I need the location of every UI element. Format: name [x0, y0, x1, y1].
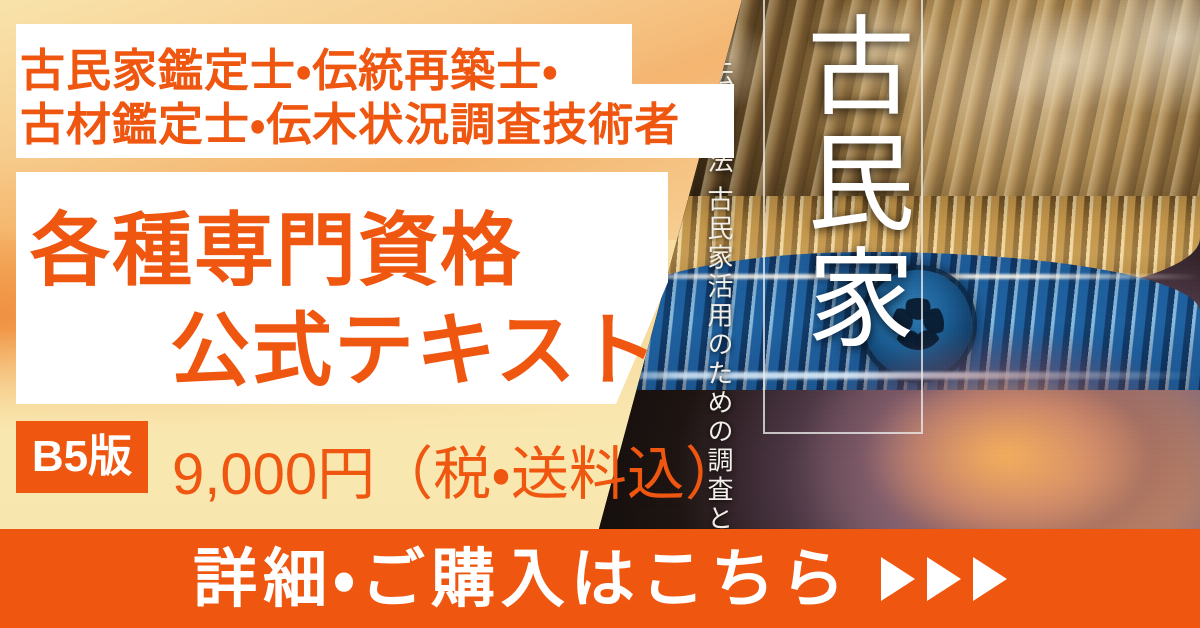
cta-label: 詳細・ご購入はこちら	[193, 547, 851, 611]
triangle-right-icon	[973, 557, 1007, 601]
triangle-right-icon	[881, 557, 915, 601]
headline-line-2: 公式テキスト	[170, 286, 660, 402]
headline-line-1: 各種専門資格	[30, 186, 522, 302]
cta-arrow-group	[881, 557, 1007, 601]
cta-button[interactable]: 詳細・ご購入はこちら	[0, 529, 1200, 628]
promo-banner: 古民家 伝統構法 古民家活用のための調査と再生の 古民家鑑定士・伝統再築士・ 古…	[0, 0, 1200, 628]
format-badge: B5版	[16, 421, 148, 493]
price-label: 9,000円（税・送料込）	[172, 427, 743, 511]
triangle-right-icon	[927, 557, 961, 601]
certification-line-2: 古材鑑定士・伝木状況調査技術者	[20, 88, 680, 153]
book-cover-title: 古民家	[774, 10, 908, 358]
format-badge-label: B5版	[32, 435, 132, 479]
